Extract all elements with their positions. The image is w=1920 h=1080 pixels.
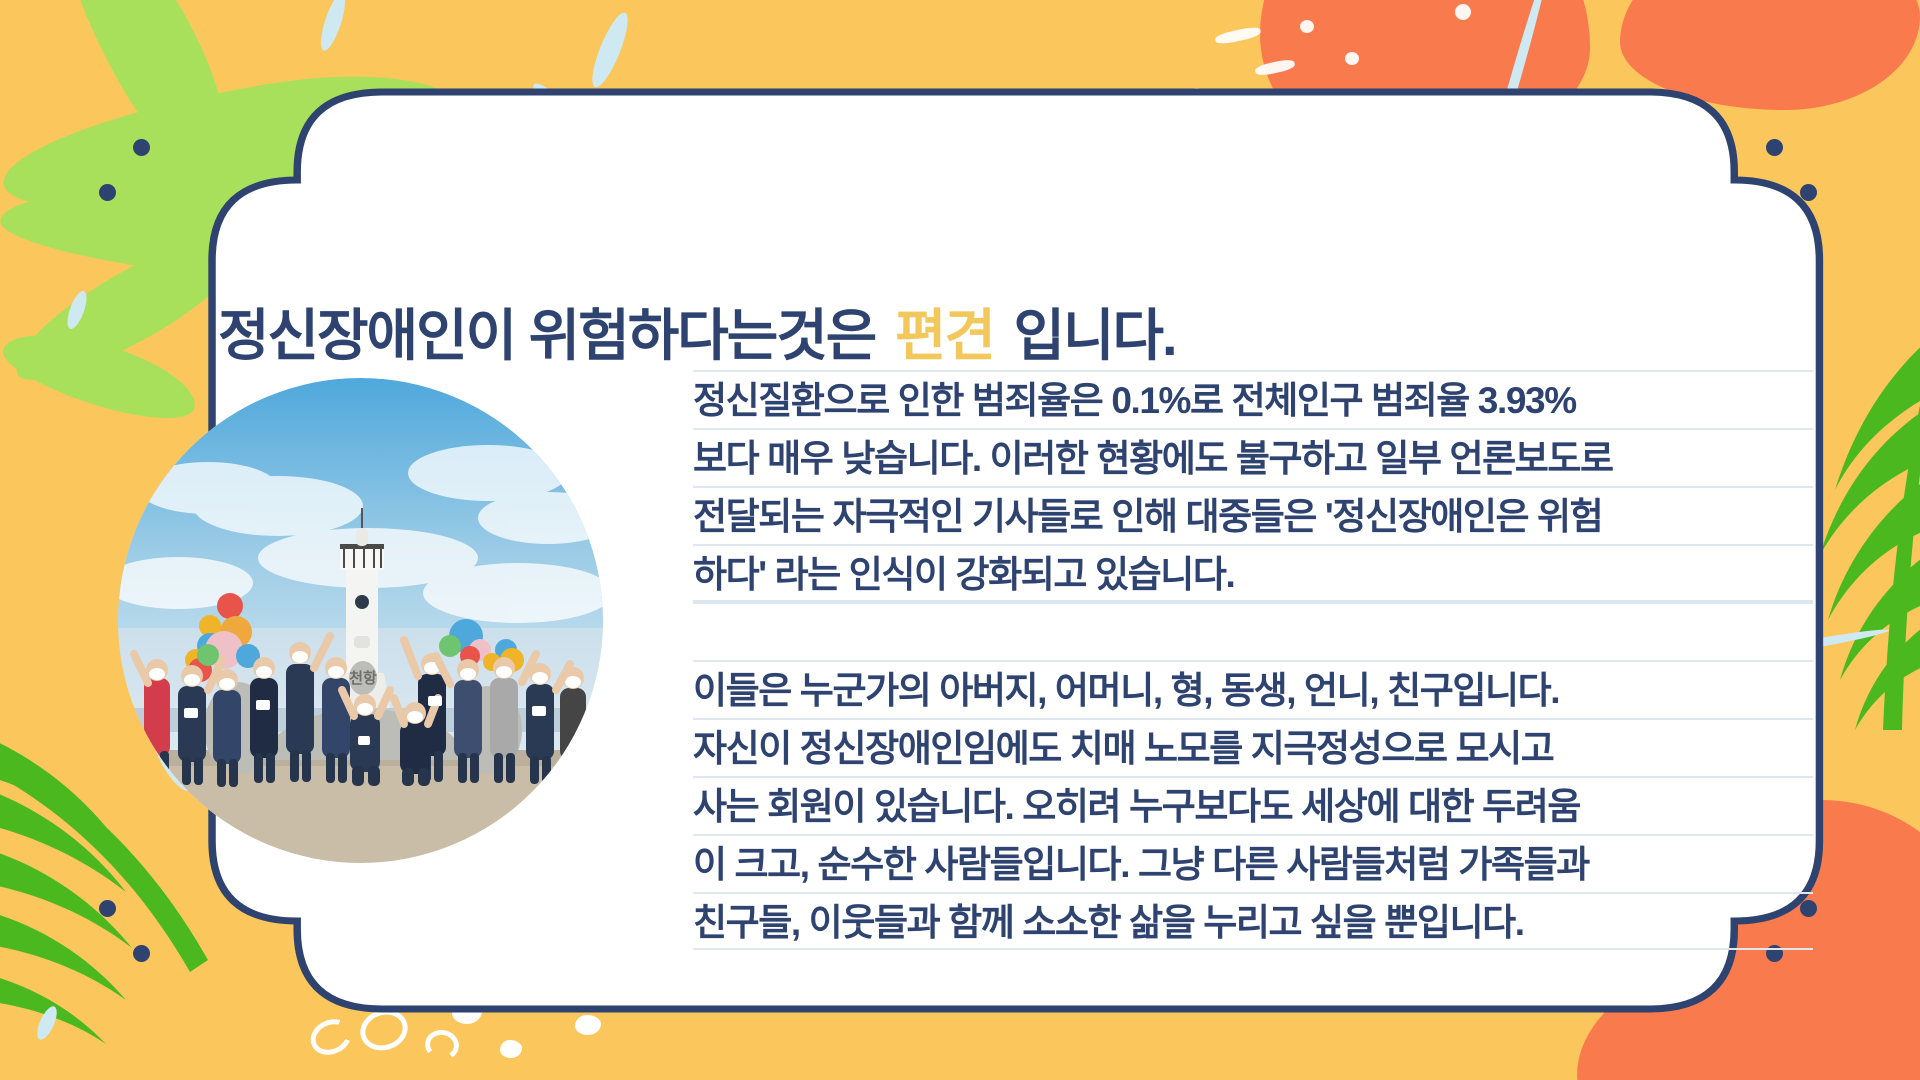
title-text-before: 정신장애인이 위험하다는것은 [218, 304, 875, 367]
content-card: 정신장애인이 위험하다는것은 편견 입니다. [63, 88, 1853, 1013]
text-line: 하다' 라는 인식이 강화되고 있습니다. [693, 544, 1813, 602]
confetti-dash-icon [1214, 25, 1261, 45]
confetti-dot-icon [1300, 20, 1314, 33]
text-line: 사는 회원이 있습니다. 오히려 누구보다도 세상에 대한 두려움 [693, 776, 1813, 834]
card-corner-dot [133, 945, 150, 962]
title-highlight-word: 편견 [895, 304, 994, 367]
svg-text:천항: 천항 [349, 669, 377, 687]
confetti-dot-icon [1455, 4, 1471, 20]
paragraph-2: 이들은 누군가의 아버지, 어머니, 형, 동생, 언니, 친구입니다. 자신이… [693, 660, 1813, 950]
doodle-ring-icon [305, 1013, 357, 1062]
title-text-after: 입니다. [1014, 304, 1176, 367]
card-corner-dot [1800, 184, 1817, 201]
group-photo-illustration: 천항 [118, 378, 603, 863]
confetti-dot-icon [1345, 52, 1359, 65]
card-corner-dot [133, 139, 150, 156]
doodle-ring-icon [423, 1027, 462, 1062]
text-line: 전달되는 자극적인 기사들로 인해 대중들은 '정신장애인은 위험 [693, 486, 1813, 544]
text-line: 친구들, 이웃들과 함께 소소한 삶을 누리고 싶을 뿐입니다. [693, 892, 1813, 950]
text-line: 이 크고, 순수한 사람들입니다. 그냥 다른 사람들처럼 가족들과 [693, 834, 1813, 892]
text-line: 이들은 누군가의 아버지, 어머니, 형, 동생, 언니, 친구입니다. [693, 660, 1813, 718]
doodle-blob-icon [575, 1015, 601, 1035]
card-corner-dot [99, 900, 116, 917]
text-line: 자신이 정신장애인임에도 치매 노모를 지극정성으로 모시고 [693, 718, 1813, 776]
paragraph-1: 정신질환으로 인한 범죄율은 0.1%로 전체인구 범죄율 3.93% 보다 매… [693, 370, 1813, 602]
card-corner-dot [99, 184, 116, 201]
card-corner-dot [1766, 139, 1783, 156]
brush-stroke-icon [586, 9, 635, 91]
text-line: 정신질환으로 인한 범죄율은 0.1%로 전체인구 범죄율 3.93% [693, 370, 1813, 428]
body-text: 정신질환으로 인한 범죄율은 0.1%로 전체인구 범죄율 3.93% 보다 매… [693, 370, 1813, 950]
page-title: 정신장애인이 위험하다는것은 편견 입니다. [218, 308, 1176, 364]
group-photo: 천항 [118, 378, 603, 863]
paragraph-gap-rule [693, 602, 1813, 660]
text-line: 보다 매우 낮습니다. 이러한 현황에도 불구하고 일부 언론보도로 [693, 428, 1813, 486]
brush-stroke-icon [316, 0, 350, 53]
doodle-blob-icon [500, 1040, 522, 1058]
